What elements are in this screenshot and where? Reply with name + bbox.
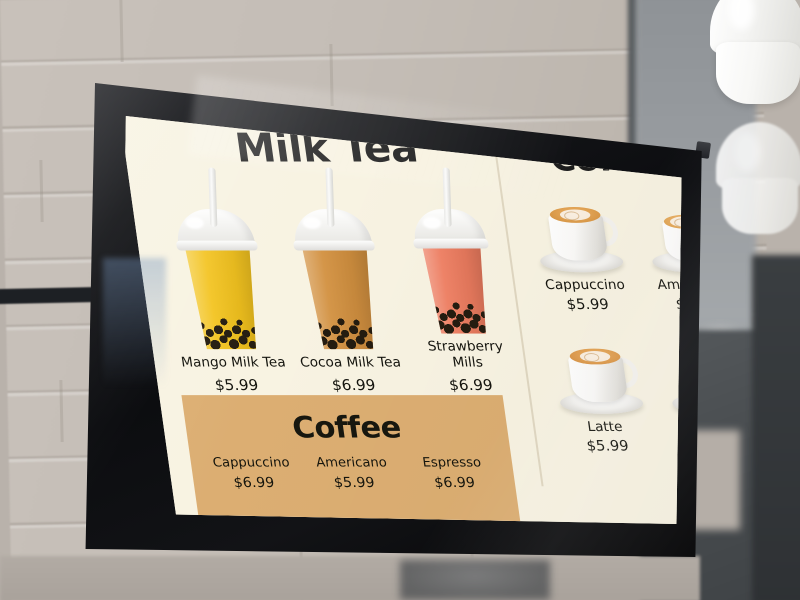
promo-item-name: Espresso [401,456,502,471]
latte-art [579,351,611,362]
boba-cup-icon [156,199,286,350]
boba-pearls [194,309,264,349]
menu-item-latte[interactable]: Latte $5.99 [540,329,661,455]
promo-item-price: $6.99 [203,475,305,491]
menu-item-name: Cappuccino [532,277,637,293]
menu-item-price: $5.99 [555,439,660,455]
milk-tea-item-list: Mango Milk Tea $5.99 [154,183,527,394]
coffee-cup-icon [540,329,655,414]
promo-heading: Coffee [181,395,509,446]
digital-menu-display[interactable]: Milk Tea [78,68,708,568]
straw-icon [325,167,334,227]
promo-item-americano[interactable]: Americano $5.99 [301,456,405,492]
menu-item-price: $6.99 [298,376,410,394]
straw-icon [208,167,217,227]
menu-item-name: Cocoa Milk Tea [295,355,406,370]
cup-lid-rim [293,240,375,250]
menu-item-name: Mango Milk Tea [178,355,289,370]
menu-item-strawberry-mills[interactable]: Strawberry Mills $6.99 [388,183,527,394]
cup-body [422,243,493,334]
pendant-lamp-icon [710,0,800,130]
promo-item-price: $5.99 [304,475,406,491]
cup-lid-rim [176,240,258,250]
menu-item-name: Strawberry Mills [410,340,523,371]
promo-item-list: Cappuccino $6.99 Americano $5.99 Espress… [189,446,517,492]
menu-item-mango-milk-tea[interactable]: Mango Milk Tea $5.99 [156,199,293,395]
straw-icon [443,167,452,227]
boba-cup-icon [388,183,518,334]
menu-item-price: $6.99 [415,376,527,394]
cup-lid-rim [413,239,489,249]
boba-pearls [311,309,381,349]
coffee-cup-icon [520,187,635,272]
boba-cup-icon [273,199,403,350]
pendant-lamp-icon [716,122,800,257]
menu-item-price: $5.99 [181,376,293,394]
lamp-shade-lower [716,42,800,104]
lamp-highlight [728,0,754,30]
menu-item-price: $5.99 [535,297,640,313]
boba-pearls [429,294,493,334]
cup-body [302,246,381,349]
coffee-promo-panel[interactable]: Coffee Cappuccino $6.99 Americano $5.99 [181,395,520,524]
promo-item-cappuccino[interactable]: Cappuccino $6.99 [201,456,305,492]
menu-item-cocoa-milk-tea[interactable]: Cocoa Milk Tea $6.99 [273,199,410,395]
background-dark-strip [752,255,800,600]
menu-item-name: Latte [552,419,657,435]
promo-item-price: $6.99 [404,475,506,491]
lamp-highlight [734,132,760,172]
promo-item-name: Cappuccino [201,456,302,471]
promo-item-name: Americano [301,456,402,471]
latte-art [559,209,591,220]
promo-item-espresso[interactable]: Espresso $6.99 [401,456,505,492]
photo-scene: Milk Tea [0,0,800,600]
cup-body [185,246,264,349]
lamp-shade-lower [722,178,798,234]
menu-item-cappuccino[interactable]: Cappuccino $5.99 [520,187,641,313]
